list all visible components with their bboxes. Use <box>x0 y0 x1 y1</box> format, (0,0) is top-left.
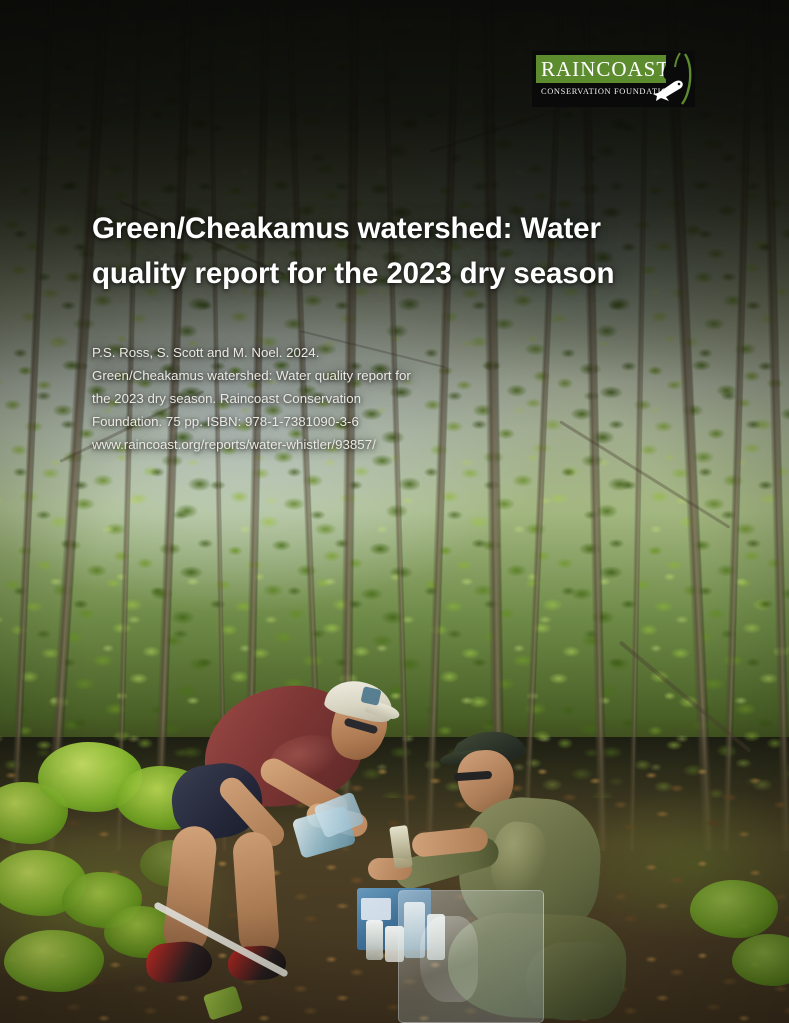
logo-wordmark: RAINCOAST <box>536 59 670 80</box>
bear-and-salmon-icon <box>652 51 695 107</box>
logo-tagline: CONSERVATION FOUNDATION <box>536 87 671 96</box>
citation-line-4: Foundation. 75 pp. ISBN: 978-1-7381090-3… <box>92 410 492 433</box>
logo-green-band: RAINCOAST <box>536 55 671 83</box>
title-line-2: quality report for the 2023 dry season <box>92 251 652 296</box>
citation-line-1: P.S. Ross, S. Scott and M. Noel. 2024. <box>92 341 492 364</box>
citation-block: P.S. Ross, S. Scott and M. Noel. 2024. G… <box>92 341 492 456</box>
citation-url[interactable]: www.raincoast.org/reports/water-whistler… <box>92 433 492 456</box>
cover-photograph <box>0 0 789 1023</box>
raincoast-logo[interactable]: RAINCOAST CONSERVATION FOUNDATION <box>532 51 695 107</box>
page-title: Green/Cheakamus watershed: Water quality… <box>92 206 652 296</box>
report-cover-page: RAINCOAST CONSERVATION FOUNDATION Green/… <box>0 0 789 1023</box>
citation-line-3: the 2023 dry season. Raincoast Conservat… <box>92 387 492 410</box>
title-line-1: Green/Cheakamus watershed: Water <box>92 206 652 251</box>
citation-line-2: Green/Cheakamus watershed: Water quality… <box>92 364 492 387</box>
